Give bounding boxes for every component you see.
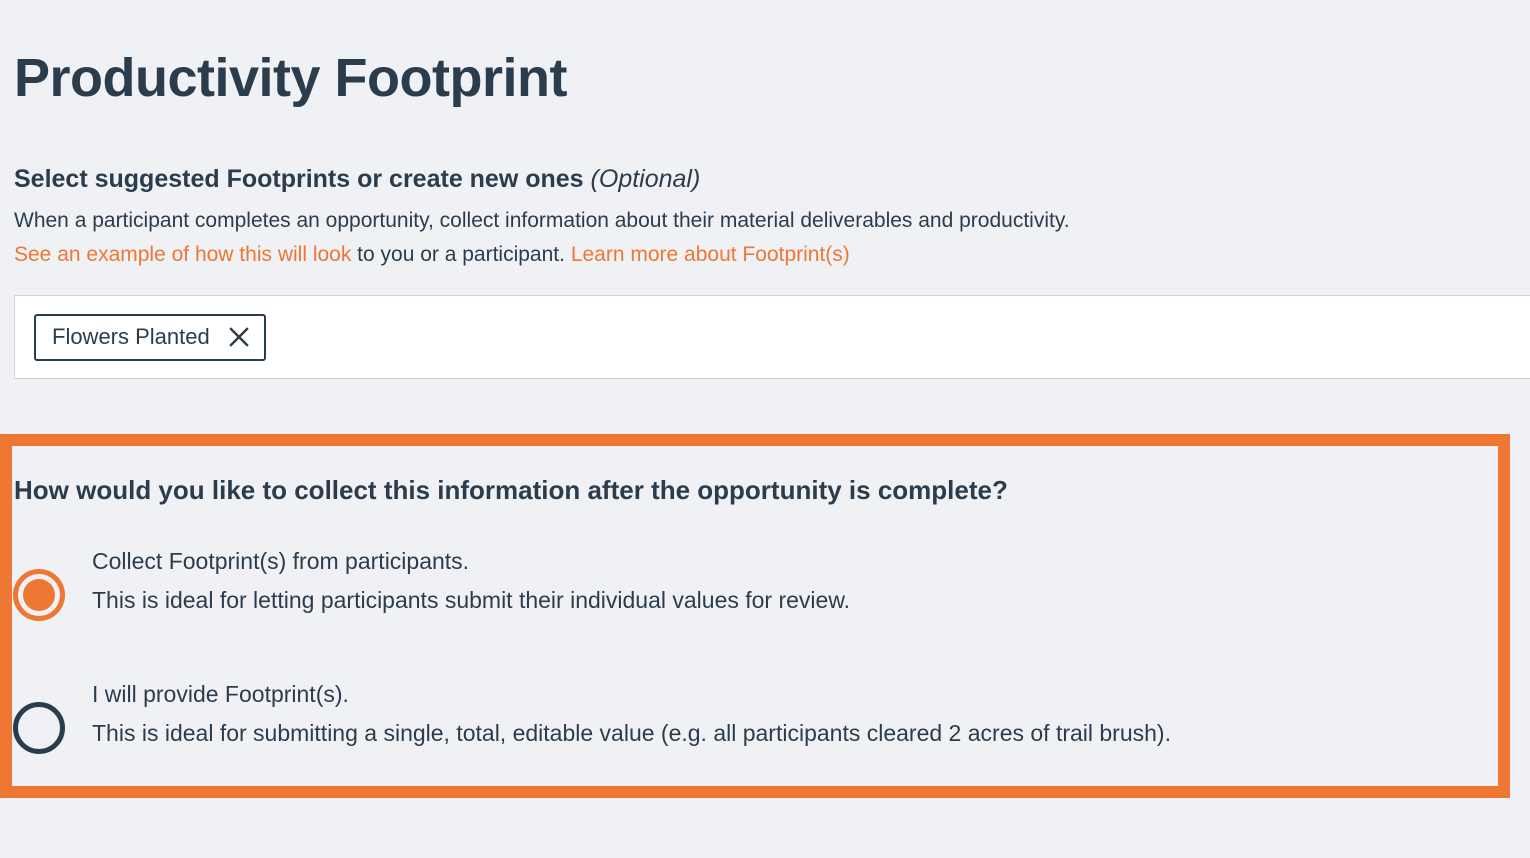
- section-description-line-2: See an example of how this will look to …: [14, 238, 1514, 272]
- section-description-text: When a participant completes an opportun…: [14, 209, 1070, 232]
- radio-option-text-i-will-provide: I will provide Footprint(s). This is ide…: [92, 675, 1488, 753]
- footprint-chip[interactable]: Flowers Planted: [34, 314, 266, 361]
- section-description-line-1: When a participant completes an opportun…: [14, 204, 1514, 238]
- footprint-section-header: Select suggested Footprints or create ne…: [14, 163, 1514, 272]
- learn-more-link[interactable]: Learn more about Footprint(s): [571, 243, 850, 266]
- radio-option-secondary-label: This is ideal for letting participants s…: [92, 581, 1488, 620]
- radio-option-primary-label: I will provide Footprint(s).: [92, 675, 1488, 714]
- footprint-tag-input[interactable]: Flowers Planted: [14, 295, 1530, 379]
- page-title: Productivity Footprint: [14, 46, 567, 111]
- collection-method-panel-inner: How would you like to collect this infor…: [12, 446, 1498, 786]
- productivity-footprint-page: Productivity Footprint Select suggested …: [0, 0, 1530, 858]
- radio-option-text-collect-from-participants: Collect Footprint(s) from participants. …: [92, 542, 1488, 620]
- radio-button-collect-from-participants[interactable]: [13, 569, 65, 621]
- section-title-main: Select suggested Footprints or create ne…: [14, 165, 584, 193]
- radio-option-primary-label: Collect Footprint(s) from participants.: [92, 542, 1488, 581]
- see-example-link[interactable]: See an example of how this will look: [14, 243, 351, 266]
- section-title: Select suggested Footprints or create ne…: [14, 163, 1514, 196]
- section-title-optional: (Optional): [591, 165, 701, 193]
- collection-method-panel: How would you like to collect this infor…: [0, 434, 1510, 798]
- radio-option-secondary-label: This is ideal for submitting a single, t…: [92, 714, 1488, 753]
- footprint-chip-label: Flowers Planted: [52, 326, 210, 348]
- radio-button-i-will-provide[interactable]: [13, 702, 65, 754]
- close-icon[interactable]: [228, 326, 250, 348]
- section-description-middle: to you or a participant.: [351, 243, 570, 266]
- collection-method-title: How would you like to collect this infor…: [14, 475, 1008, 506]
